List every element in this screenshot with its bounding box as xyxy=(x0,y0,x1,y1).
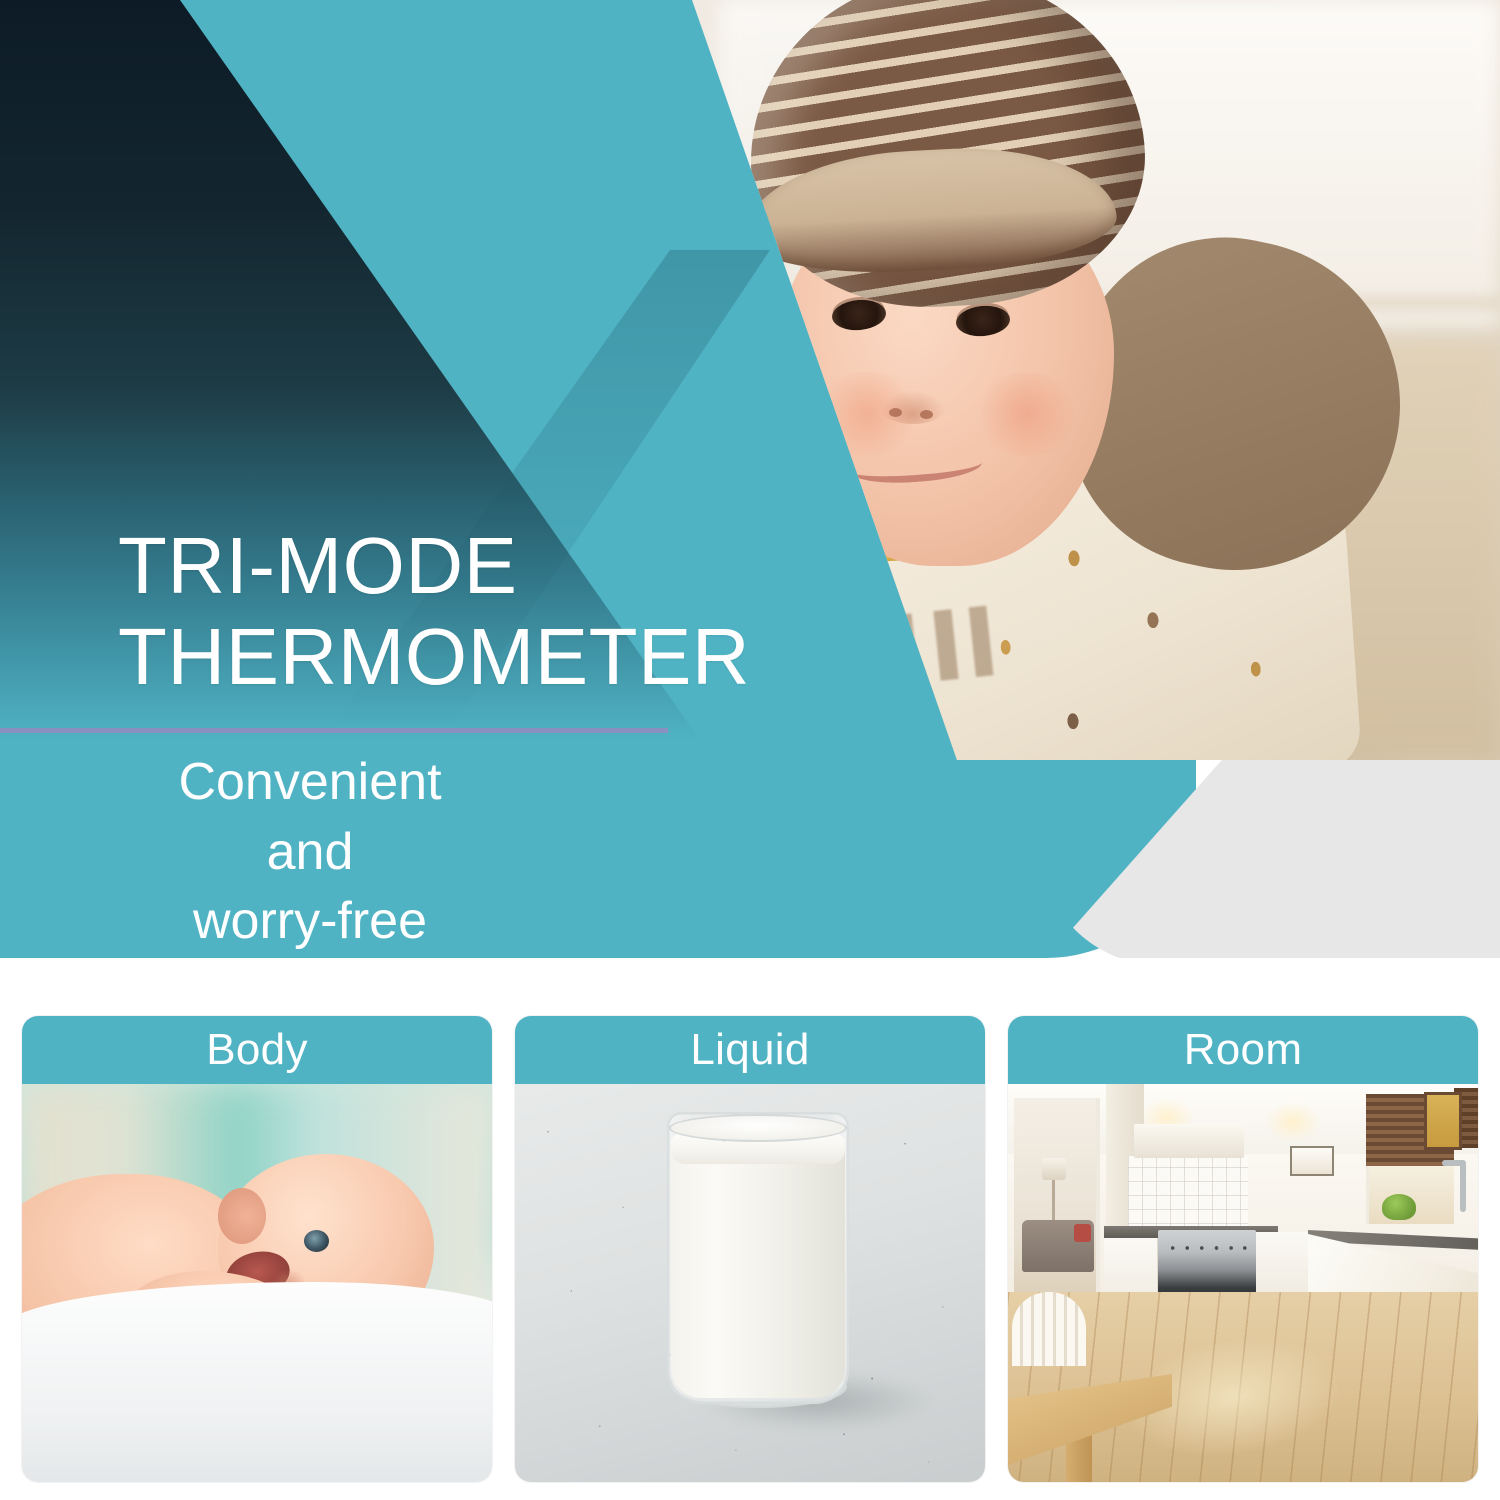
hero-subtitle: Convenient and worry-free xyxy=(0,748,620,957)
mode-card-body-label: Body xyxy=(22,1016,492,1084)
mode-card-liquid[interactable]: Liquid xyxy=(515,1016,985,1482)
mode-card-body[interactable]: Body xyxy=(22,1016,492,1482)
mode-card-room-label: Room xyxy=(1008,1016,1478,1084)
mode-card-row: Body Liquid xyxy=(0,1016,1500,1486)
product-feature-banner: TRI-MODE THERMOMETER Convenient and worr… xyxy=(0,0,1500,1500)
mode-card-body-image xyxy=(22,1084,492,1482)
mode-card-liquid-label: Liquid xyxy=(515,1016,985,1084)
mode-card-room-image xyxy=(1008,1084,1478,1482)
page-title: TRI-MODE THERMOMETER xyxy=(118,520,738,702)
title-divider xyxy=(0,728,668,733)
mode-card-room[interactable]: Room xyxy=(1008,1016,1478,1482)
hero-section: TRI-MODE THERMOMETER Convenient and worr… xyxy=(0,0,1500,958)
mode-card-liquid-image xyxy=(515,1084,985,1482)
